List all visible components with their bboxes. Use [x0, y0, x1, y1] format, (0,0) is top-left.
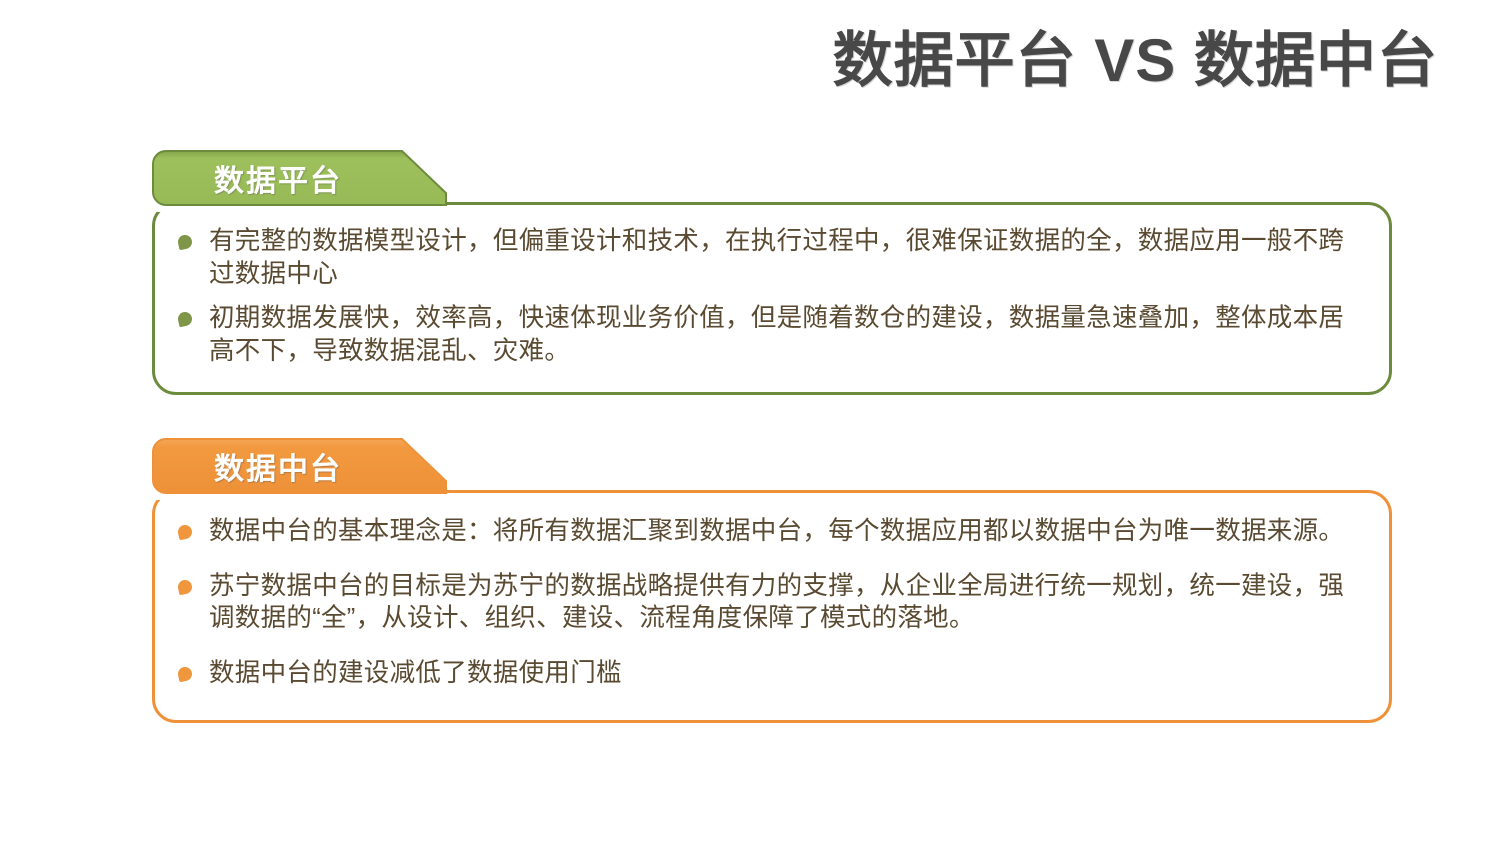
list-item-text: 数据中台的建设减低了数据使用门槛: [209, 659, 622, 687]
card-data-middle-platform: 数据中台 数据中台的基本理念是：将所有数据汇聚到数据中台，每个数据应用都以数据中…: [152, 438, 1392, 723]
list-item: 苏宁数据中台的目标是为苏宁的数据战略提供有力的支撑，从企业全局进行统一规划，统一…: [165, 570, 1363, 635]
bullet-leaf-icon: [177, 524, 194, 541]
bullet-list-data-platform: 有完整的数据模型设计，但偏重设计和技术，在执行过程中，很难保证数据的全，数据应用…: [165, 225, 1363, 368]
list-item: 数据中台的建设减低了数据使用门槛: [165, 657, 1363, 690]
bullet-leaf-icon: [177, 666, 194, 683]
card-tab-label-data-middle-platform: 数据中台: [152, 444, 342, 488]
list-item-text: 数据中台的基本理念是：将所有数据汇聚到数据中台，每个数据应用都以数据中台为唯一数…: [209, 517, 1344, 545]
bullet-leaf-icon: [177, 578, 194, 595]
card-tab-data-middle-platform[interactable]: 数据中台: [152, 438, 448, 494]
list-item-text: 有完整的数据模型设计，但偏重设计和技术，在执行过程中，很难保证数据的全，数据应用…: [209, 227, 1344, 288]
list-item-text: 初期数据发展快，效率高，快速体现业务价值，但是随着数仓的建设，数据量急速叠加，整…: [209, 304, 1344, 365]
bullet-leaf-icon: [177, 234, 194, 251]
card-body-data-platform: 有完整的数据模型设计，但偏重设计和技术，在执行过程中，很难保证数据的全，数据应用…: [152, 202, 1392, 395]
bullet-leaf-icon: [177, 311, 194, 328]
page-title: 数据平台 VS 数据中台: [833, 26, 1438, 95]
list-item-text: 苏宁数据中台的目标是为苏宁的数据战略提供有力的支撑，从企业全局进行统一规划，统一…: [209, 572, 1344, 633]
bullet-list-data-middle-platform: 数据中台的基本理念是：将所有数据汇聚到数据中台，每个数据应用都以数据中台为唯一数…: [165, 515, 1363, 690]
list-item: 有完整的数据模型设计，但偏重设计和技术，在执行过程中，很难保证数据的全，数据应用…: [165, 225, 1363, 290]
list-item: 数据中台的基本理念是：将所有数据汇聚到数据中台，每个数据应用都以数据中台为唯一数…: [165, 515, 1363, 548]
card-tab-data-platform[interactable]: 数据平台: [152, 150, 448, 206]
card-data-platform: 数据平台 有完整的数据模型设计，但偏重设计和技术，在执行过程中，很难保证数据的全…: [152, 150, 1392, 395]
card-tab-label-data-platform: 数据平台: [152, 156, 342, 200]
card-body-data-middle-platform: 数据中台的基本理念是：将所有数据汇聚到数据中台，每个数据应用都以数据中台为唯一数…: [152, 490, 1392, 723]
list-item: 初期数据发展快，效率高，快速体现业务价值，但是随着数仓的建设，数据量急速叠加，整…: [165, 302, 1363, 367]
